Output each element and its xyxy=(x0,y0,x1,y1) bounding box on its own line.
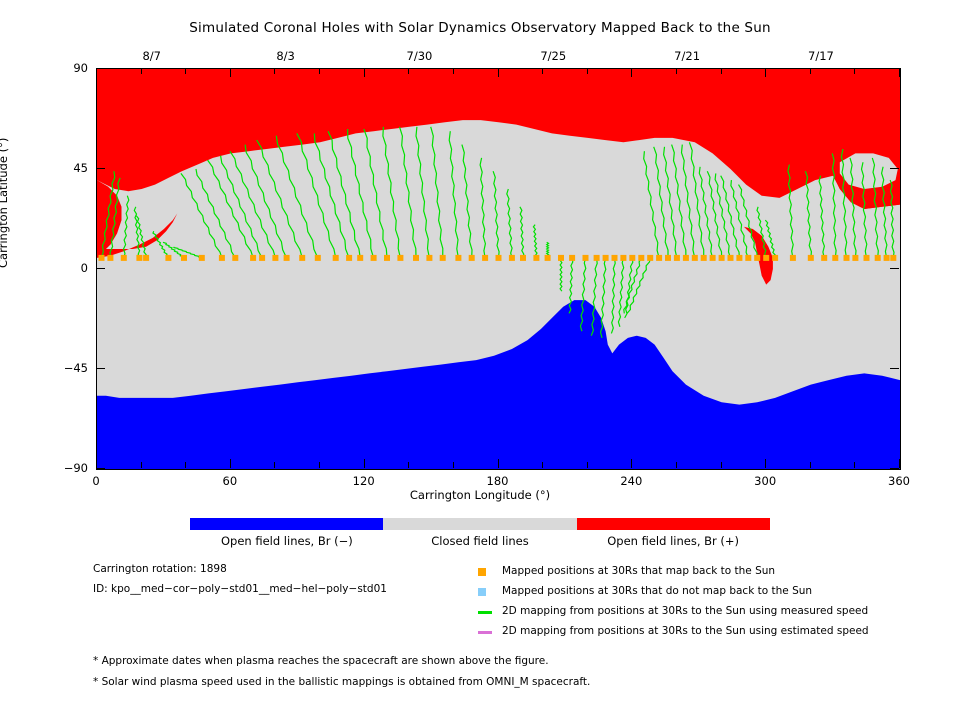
mapped-position-marker xyxy=(701,255,707,261)
x-tick-bottom xyxy=(765,459,766,468)
colorbar-label: Open field lines, Br (+) xyxy=(607,534,739,548)
mapped-position-marker xyxy=(864,255,870,261)
mapped-position-marker xyxy=(413,255,419,261)
mapped-position-marker xyxy=(875,255,881,261)
mapped-position-marker xyxy=(808,255,814,261)
x-tick-top xyxy=(364,68,365,77)
legend-square-swatch xyxy=(478,568,486,576)
mapped-position-marker xyxy=(371,255,377,261)
mapped-position-marker xyxy=(520,255,526,261)
top-date-label: 7/21 xyxy=(674,49,700,63)
x-tick-top xyxy=(498,68,499,77)
x-tick-top xyxy=(899,68,900,77)
mapped-position-marker xyxy=(692,255,698,261)
x-tick-bottom xyxy=(899,459,900,468)
mapped-position-marker xyxy=(469,255,475,261)
x-tick-bottom xyxy=(185,462,186,468)
legend-item-label: 2D mapping from positions at 30Rs to the… xyxy=(502,605,868,617)
x-tick-top xyxy=(542,68,543,74)
mapped-position-marker xyxy=(745,255,751,261)
x-tick-bottom xyxy=(408,462,409,468)
mapped-position-marker xyxy=(232,255,238,261)
mapped-position-marker xyxy=(719,255,725,261)
mapped-position-marker xyxy=(143,255,149,261)
x-tick-label: 0 xyxy=(92,474,99,488)
mapped-position-marker xyxy=(569,255,575,261)
mapped-position-marker xyxy=(333,255,339,261)
x-tick-bottom xyxy=(453,462,454,468)
y-tick-label: 45 xyxy=(40,161,88,175)
mapped-position-marker xyxy=(219,255,225,261)
x-tick-bottom xyxy=(676,462,677,468)
x-tick-top xyxy=(408,68,409,74)
y-tick-right xyxy=(890,168,899,169)
top-date-label: 7/17 xyxy=(808,49,834,63)
x-tick-label: 360 xyxy=(888,474,910,488)
y-tick-label: −90 xyxy=(40,461,88,475)
mapped-position-marker xyxy=(772,255,778,261)
mapped-position-marker xyxy=(647,255,653,261)
mapped-position-marker xyxy=(558,255,564,261)
mapped-position-marker xyxy=(455,255,461,261)
y-tick-label: 90 xyxy=(40,61,88,75)
x-tick-label: 60 xyxy=(223,474,238,488)
mapped-position-marker xyxy=(259,255,265,261)
mapped-position-marker xyxy=(638,255,644,261)
x-tick-bottom xyxy=(319,462,320,468)
mapped-position-marker xyxy=(397,255,403,261)
mapped-position-marker xyxy=(884,255,890,261)
mapped-position-marker xyxy=(736,255,742,261)
legend-item-label: Mapped positions at 30Rs that do not map… xyxy=(502,585,812,597)
colorbar-label: Open field lines, Br (−) xyxy=(221,534,353,548)
x-tick-bottom xyxy=(274,462,275,468)
mapped-position-marker xyxy=(315,255,321,261)
x-tick-bottom xyxy=(542,462,543,468)
mapped-position-marker xyxy=(284,255,290,261)
top-date-label: 8/3 xyxy=(276,49,295,63)
y-tick-left xyxy=(96,368,105,369)
x-tick-top xyxy=(274,68,275,74)
mapped-position-marker xyxy=(790,255,796,261)
y-tick-right xyxy=(890,268,899,269)
mapped-position-marker xyxy=(832,255,838,261)
x-tick-top xyxy=(676,68,677,74)
mapped-position-marker xyxy=(674,255,680,261)
top-date-label: 7/30 xyxy=(407,49,433,63)
mapped-position-marker xyxy=(107,255,113,261)
x-tick-top xyxy=(230,68,231,77)
x-tick-top xyxy=(587,68,588,74)
x-tick-top xyxy=(141,68,142,74)
mapped-position-marker xyxy=(357,255,363,261)
x-tick-bottom xyxy=(141,462,142,468)
mapped-position-marker xyxy=(763,255,769,261)
x-tick-top xyxy=(810,68,811,74)
mapped-position-marker xyxy=(509,255,515,261)
y-tick-left xyxy=(96,68,105,69)
mapped-position-marker xyxy=(496,255,502,261)
x-tick-bottom xyxy=(810,462,811,468)
x-tick-label: 180 xyxy=(487,474,509,488)
x-tick-bottom xyxy=(498,459,499,468)
colorbar-segment xyxy=(190,518,383,530)
legend-square-swatch xyxy=(478,588,486,596)
legend-item-label: 2D mapping from positions at 30Rs to the… xyxy=(502,625,869,637)
coronal-hole-map[interactable] xyxy=(96,68,901,470)
mapped-position-marker xyxy=(384,255,390,261)
x-tick-top xyxy=(453,68,454,74)
polarity-colorbar xyxy=(190,518,770,530)
x-tick-top xyxy=(319,68,320,74)
mapped-position-marker xyxy=(890,255,896,261)
mapped-position-marker xyxy=(629,255,635,261)
x-tick-bottom xyxy=(721,462,722,468)
y-tick-label: 0 xyxy=(40,261,88,275)
mapped-position-marker xyxy=(683,255,689,261)
mapped-position-marker xyxy=(346,255,352,261)
x-tick-bottom xyxy=(96,459,97,468)
mapped-position-marker xyxy=(594,255,600,261)
mapped-position-marker xyxy=(299,255,305,261)
mapped-position-marker xyxy=(728,255,734,261)
mapped-position-marker xyxy=(754,255,760,261)
x-tick-top xyxy=(721,68,722,74)
y-tick-right xyxy=(890,368,899,369)
y-tick-left xyxy=(96,468,105,469)
x-tick-top xyxy=(765,68,766,77)
carrington-rotation-text: Carrington rotation: 1898 xyxy=(93,563,227,575)
top-date-label: 8/7 xyxy=(142,49,161,63)
x-tick-top xyxy=(185,68,186,74)
mapped-position-marker xyxy=(656,255,662,261)
mapped-position-marker xyxy=(665,255,671,261)
mapped-position-marker xyxy=(620,255,626,261)
top-date-label: 7/25 xyxy=(540,49,566,63)
mapped-position-marker xyxy=(612,255,618,261)
mapped-position-marker xyxy=(710,255,716,261)
x-tick-top xyxy=(854,68,855,74)
mapped-position-marker xyxy=(426,255,432,261)
y-tick-left xyxy=(96,168,105,169)
mapped-position-marker xyxy=(821,255,827,261)
figure-title: Simulated Coronal Holes with Solar Dynam… xyxy=(0,20,960,36)
x-tick-bottom xyxy=(631,459,632,468)
mapped-position-marker xyxy=(136,255,142,261)
x-tick-bottom xyxy=(230,459,231,468)
x-tick-label: 120 xyxy=(353,474,375,488)
footnote-dates: * Approximate dates when plasma reaches … xyxy=(93,655,549,667)
mapped-position-marker xyxy=(250,255,256,261)
map-svg xyxy=(97,69,900,469)
mapped-position-marker xyxy=(603,255,609,261)
mapped-position-marker xyxy=(583,255,589,261)
mapped-position-marker xyxy=(844,255,850,261)
y-tick-label: −45 xyxy=(40,361,88,375)
mapped-position-marker xyxy=(99,255,105,261)
dataset-id-text: ID: kpo__med−cor−poly−std01__med−hel−pol… xyxy=(93,583,387,595)
mapped-position-marker xyxy=(181,255,187,261)
x-tick-bottom xyxy=(364,459,365,468)
x-tick-label: 300 xyxy=(754,474,776,488)
x-tick-label: 240 xyxy=(620,474,642,488)
colorbar-segment xyxy=(577,518,770,530)
x-tick-top xyxy=(631,68,632,77)
mapped-position-marker xyxy=(545,255,551,261)
y-tick-left xyxy=(96,268,105,269)
y-tick-right xyxy=(890,468,899,469)
y-tick-right xyxy=(890,68,899,69)
mapped-position-marker xyxy=(533,255,539,261)
footnote-speed: * Solar wind plasma speed used in the ba… xyxy=(93,676,590,688)
figure-canvas: Simulated Coronal Holes with Solar Dynam… xyxy=(0,0,960,720)
y-axis-title: Carrington Latitude (°) xyxy=(0,138,10,268)
mapped-position-marker xyxy=(482,255,488,261)
x-tick-bottom xyxy=(587,462,588,468)
x-tick-bottom xyxy=(854,462,855,468)
mapped-position-marker xyxy=(199,255,205,261)
mapped-position-marker xyxy=(440,255,446,261)
colorbar-segment xyxy=(383,518,576,530)
x-tick-top xyxy=(96,68,97,77)
mapped-position-marker xyxy=(165,255,171,261)
legend-item-label: Mapped positions at 30Rs that map back t… xyxy=(502,565,775,577)
mapped-position-marker xyxy=(121,255,127,261)
mapped-position-marker xyxy=(272,255,278,261)
colorbar-label: Closed field lines xyxy=(431,534,529,548)
legend-line-swatch xyxy=(478,611,492,614)
x-axis-title: Carrington Longitude (°) xyxy=(0,488,960,502)
legend-line-swatch xyxy=(478,631,492,634)
mapped-position-marker xyxy=(852,255,858,261)
